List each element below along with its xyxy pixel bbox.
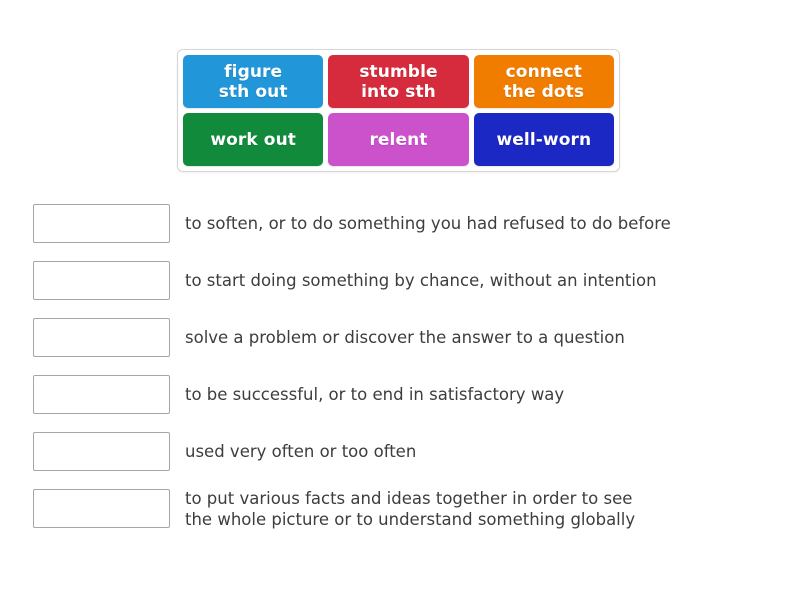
definition-text-3: solve a problem or discover the answer t… <box>185 327 625 348</box>
tile-row-2: work out relent well-worn <box>183 113 614 166</box>
word-tile-bank: figure sth out stumble into sth connect … <box>177 49 620 172</box>
tile-row-1: figure sth out stumble into sth connect … <box>183 55 614 108</box>
definition-list: to soften, or to do something you had re… <box>33 204 773 528</box>
answer-drop-box-3[interactable] <box>33 318 170 357</box>
tile-connect-the-dots[interactable]: connect the dots <box>474 55 614 108</box>
answer-drop-box-5[interactable] <box>33 432 170 471</box>
tile-figure-sth-out[interactable]: figure sth out <box>183 55 323 108</box>
definition-row: solve a problem or discover the answer t… <box>33 318 773 357</box>
definition-text-4: to be successful, or to end in satisfact… <box>185 384 564 405</box>
definition-row: to put various facts and ideas together … <box>33 489 773 528</box>
definition-text-5: used very often or too often <box>185 441 416 462</box>
definition-text-1: to soften, or to do something you had re… <box>185 213 671 234</box>
tile-work-out[interactable]: work out <box>183 113 323 166</box>
activity-page: figure sth out stumble into sth connect … <box>0 0 800 600</box>
definition-row: used very often or too often <box>33 432 773 471</box>
tile-well-worn[interactable]: well-worn <box>474 113 614 166</box>
definition-text-6: to put various facts and ideas together … <box>185 488 635 530</box>
answer-drop-box-6[interactable] <box>33 489 170 528</box>
definition-row: to start doing something by chance, with… <box>33 261 773 300</box>
tile-relent[interactable]: relent <box>328 113 468 166</box>
definition-row: to be successful, or to end in satisfact… <box>33 375 773 414</box>
answer-drop-box-1[interactable] <box>33 204 170 243</box>
definition-text-2: to start doing something by chance, with… <box>185 270 657 291</box>
definition-row: to soften, or to do something you had re… <box>33 204 773 243</box>
tile-stumble-into-sth[interactable]: stumble into sth <box>328 55 468 108</box>
answer-drop-box-4[interactable] <box>33 375 170 414</box>
answer-drop-box-2[interactable] <box>33 261 170 300</box>
